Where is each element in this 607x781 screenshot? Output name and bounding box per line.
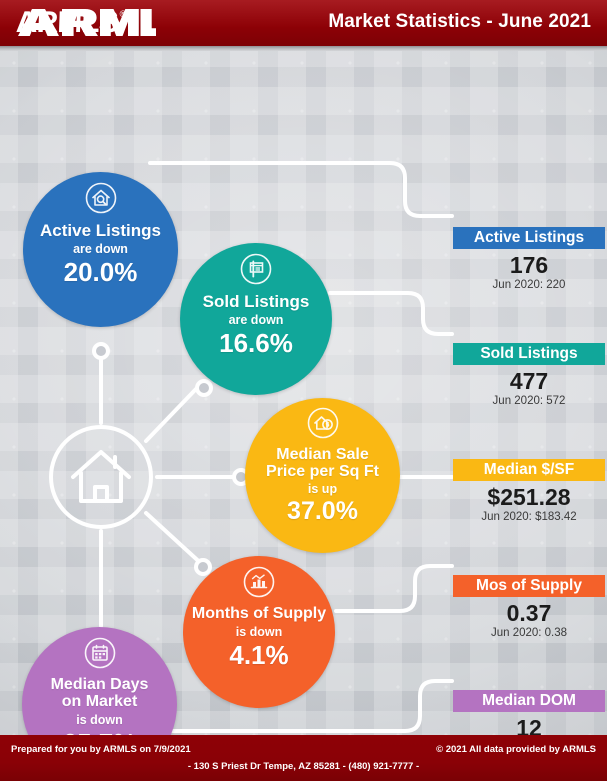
stat-previous: Jun 2020: 572 <box>453 394 605 408</box>
bubble-sold-listings[interactable]: Sold Listings are down 16.6% <box>180 243 332 395</box>
stat-panel-sold-listings: Sold Listings 477 Jun 2020: 572 <box>453 343 605 408</box>
footer-address: - 130 S Priest Dr Tempe, AZ 85281 - (480… <box>0 761 607 772</box>
bubble-median-sale-price[interactable]: Median Sale Price per Sq Ft is up 37.0% <box>245 398 400 553</box>
bubble-direction: is down <box>76 713 123 727</box>
house-search-icon <box>84 181 118 215</box>
stat-value: 12 <box>453 715 605 735</box>
bubble-title-line1: Median Days <box>51 677 149 694</box>
bubble-percent: 20.0% <box>64 257 138 288</box>
stat-value: 0.37 <box>453 600 605 627</box>
bubble-direction: are down <box>73 242 128 256</box>
status-badge: Median DOM <box>453 690 605 712</box>
header-bar: ARMLS ® Market Statistics - June 2021 <box>0 0 607 46</box>
stat-value: 176 <box>453 252 605 279</box>
bubble-title-line2: on Market <box>62 694 138 711</box>
bubble-direction: is up <box>308 482 337 496</box>
for-sale-sign-icon <box>239 252 273 286</box>
house-dollar-icon <box>306 406 340 440</box>
footer-prepared-text: Prepared for you by ARMLS on 7/9/2021 <box>11 744 191 755</box>
bubble-title: Sold Listings <box>203 293 310 311</box>
bubble-title: Months of Supply <box>192 606 326 623</box>
infographic-canvas: Active Listings are down 20.0% Sold List… <box>0 51 607 735</box>
footer-copyright: © 2021 All data provided by ARMLS <box>436 744 596 755</box>
infographic-page: ARMLS ® Market Statistics - June 2021 <box>0 0 607 781</box>
bubble-direction: is down <box>236 625 283 639</box>
status-badge: Mos of Supply <box>453 575 605 597</box>
armls-wordmark: ARMLS <box>15 8 118 38</box>
stat-value: $251.28 <box>453 484 605 511</box>
bar-chart-house-icon <box>242 565 276 599</box>
bubble-months-of-supply[interactable]: Months of Supply is down 4.1% <box>183 556 335 708</box>
stat-panel-median-price-per-sqft: Median $/SF $251.28 Jun 2020: $183.42 <box>453 459 605 524</box>
status-badge: Median $/SF <box>453 459 605 481</box>
bubble-title-line1: Median Sale <box>276 447 368 464</box>
house-icon <box>73 452 129 501</box>
stat-value: 477 <box>453 368 605 395</box>
stat-panel-months-of-supply: Mos of Supply 0.37 Jun 2020: 0.38 <box>453 575 605 640</box>
stat-previous: Jun 2020: 220 <box>453 278 605 292</box>
bubble-percent: 16.6% <box>219 328 293 359</box>
bubble-percent: 37.0% <box>287 497 358 526</box>
bubble-title-line2: Price per Sq Ft <box>266 464 379 481</box>
calendar-icon <box>83 636 117 670</box>
page-title: Market Statistics - June 2021 <box>328 11 591 33</box>
stat-panel-active-listings: Active Listings 176 Jun 2020: 220 <box>453 227 605 292</box>
bubble-direction: are down <box>229 313 284 327</box>
armls-logo: ARMLS ® <box>16 6 156 40</box>
bubble-percent: 4.1% <box>229 640 288 671</box>
center-hub <box>45 421 157 533</box>
status-badge: Active Listings <box>453 227 605 249</box>
bubble-percent: 65.7% <box>63 728 137 735</box>
stat-previous: Jun 2020: 0.38 <box>453 626 605 640</box>
stat-previous: Jun 2020: $183.42 <box>453 510 605 524</box>
registered-trademark-icon: ® <box>120 9 127 19</box>
bubble-active-listings[interactable]: Active Listings are down 20.0% <box>23 172 178 327</box>
status-badge: Sold Listings <box>453 343 605 365</box>
stat-panel-median-dom: Median DOM 12 Jun 2020: 35 <box>453 690 605 735</box>
footer-bar: Prepared for you by ARMLS on 7/9/2021 © … <box>0 735 607 781</box>
bubble-title: Active Listings <box>40 222 161 240</box>
